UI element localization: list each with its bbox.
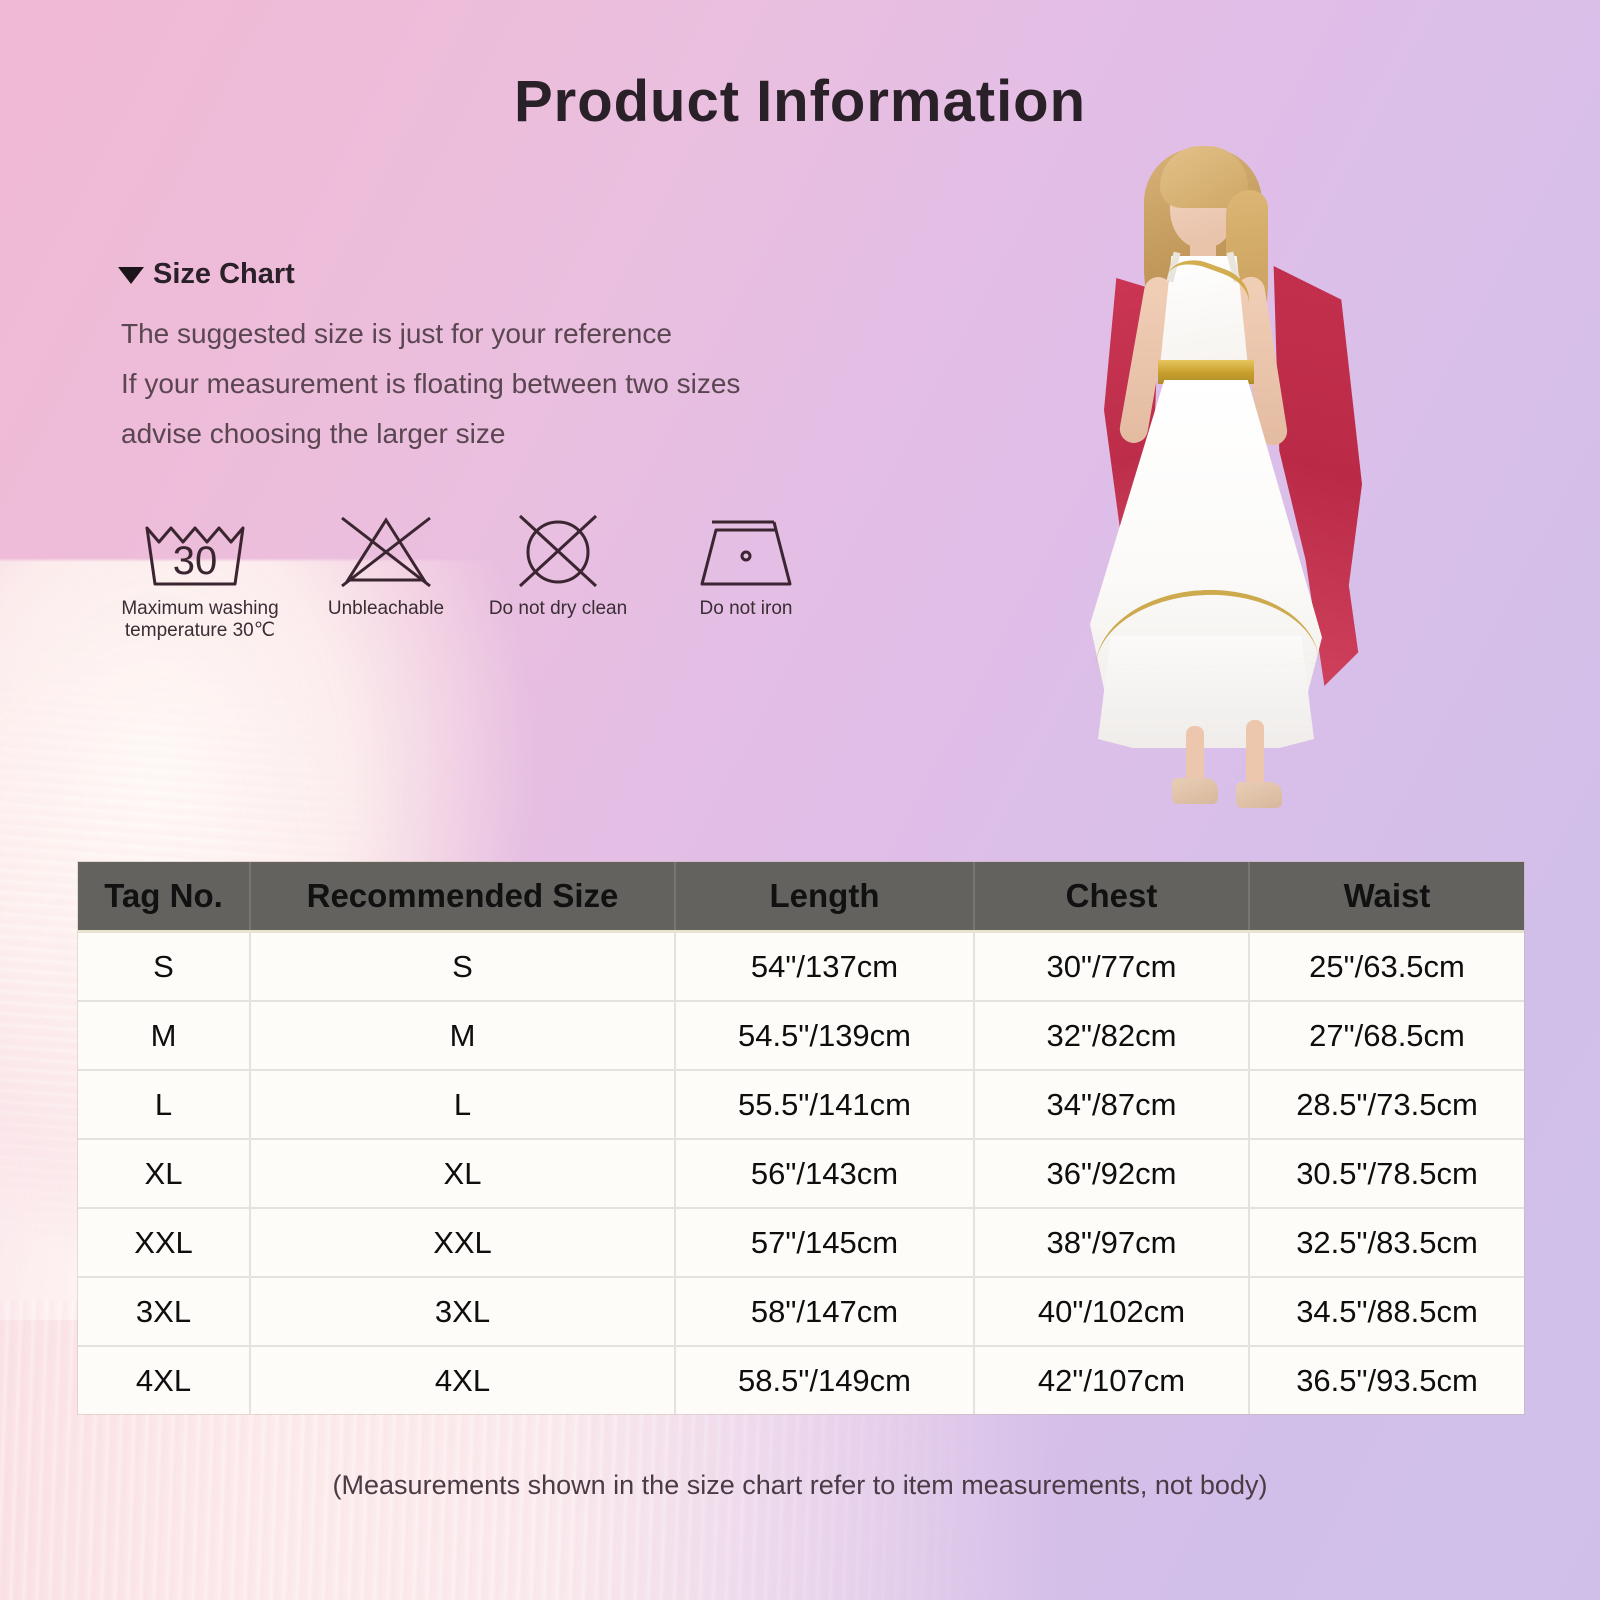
size-note-line-1: The suggested size is just for your refe… xyxy=(121,318,672,350)
table-row: 4XL 4XL 58.5"/149cm 42"/107cm 36.5"/93.5… xyxy=(78,1346,1524,1414)
cell-chest: 30"/77cm xyxy=(974,932,1249,1002)
care-label-dry-clean: Do not dry clean xyxy=(458,598,658,620)
product-model-photo xyxy=(1020,138,1386,840)
cell-tag-no: 4XL xyxy=(78,1346,250,1414)
care-item-bleach: Unbleachable xyxy=(306,508,466,620)
cell-length: 54.5"/139cm xyxy=(675,1001,974,1070)
cell-chest: 34"/87cm xyxy=(974,1070,1249,1139)
table-row: S S 54"/137cm 30"/77cm 25"/63.5cm xyxy=(78,932,1524,1002)
product-information-page: ProductInformation Size Chart The sugges… xyxy=(0,0,1600,1600)
care-item-iron: Do not iron xyxy=(666,508,826,620)
column-header-tag-no: Tag No. xyxy=(78,862,250,932)
cell-tag-no: XL xyxy=(78,1139,250,1208)
cell-waist: 28.5"/73.5cm xyxy=(1249,1070,1524,1139)
cell-tag-no: XXL xyxy=(78,1208,250,1277)
no-iron-icon xyxy=(666,508,826,590)
column-header-recommended-size: Recommended Size xyxy=(250,862,675,932)
no-dry-clean-circle-icon xyxy=(458,508,658,590)
model-shoe-right xyxy=(1236,782,1282,808)
cell-tag-no: S xyxy=(78,932,250,1002)
cell-waist: 30.5"/78.5cm xyxy=(1249,1139,1524,1208)
care-label-iron: Do not iron xyxy=(666,598,826,620)
table-row: M M 54.5"/139cm 32"/82cm 27"/68.5cm xyxy=(78,1001,1524,1070)
cell-recommended-size: L xyxy=(250,1070,675,1139)
cell-waist: 25"/63.5cm xyxy=(1249,932,1524,1002)
cell-waist: 36.5"/93.5cm xyxy=(1249,1346,1524,1414)
cell-waist: 32.5"/83.5cm xyxy=(1249,1208,1524,1277)
care-item-dry-clean: Do not dry clean xyxy=(458,508,658,620)
size-chart-heading: Size Chart xyxy=(118,258,295,291)
cell-recommended-size: XXL xyxy=(250,1208,675,1277)
cell-recommended-size: 3XL xyxy=(250,1277,675,1346)
table-row: XXL XXL 57"/145cm 38"/97cm 32.5"/83.5cm xyxy=(78,1208,1524,1277)
measurement-disclaimer: (Measurements shown in the size chart re… xyxy=(0,1470,1600,1501)
wash-temperature-value: 30 xyxy=(173,539,218,583)
cell-recommended-size: XL xyxy=(250,1139,675,1208)
cell-waist: 27"/68.5cm xyxy=(1249,1001,1524,1070)
page-title-word-1: Product xyxy=(514,69,740,134)
table-header-row: Tag No. Recommended Size Length Chest Wa… xyxy=(78,862,1524,932)
cell-recommended-size: M xyxy=(250,1001,675,1070)
page-title: ProductInformation xyxy=(0,68,1600,135)
cell-chest: 32"/82cm xyxy=(974,1001,1249,1070)
size-chart-table: Tag No. Recommended Size Length Chest Wa… xyxy=(78,862,1524,1414)
table-row: 3XL 3XL 58"/147cm 40"/102cm 34.5"/88.5cm xyxy=(78,1277,1524,1346)
column-header-length: Length xyxy=(675,862,974,932)
size-note-line-3: advise choosing the larger size xyxy=(121,418,505,450)
cell-length: 57"/145cm xyxy=(675,1208,974,1277)
page-title-word-2: Information xyxy=(756,69,1086,134)
table-row: XL XL 56"/143cm 36"/92cm 30.5"/78.5cm xyxy=(78,1139,1524,1208)
cell-length: 55.5"/141cm xyxy=(675,1070,974,1139)
cell-tag-no: 3XL xyxy=(78,1277,250,1346)
table-row: L L 55.5"/141cm 34"/87cm 28.5"/73.5cm xyxy=(78,1070,1524,1139)
care-label-wash: Maximum washing temperature 30℃ xyxy=(110,598,290,643)
cell-chest: 40"/102cm xyxy=(974,1277,1249,1346)
column-header-waist: Waist xyxy=(1249,862,1524,932)
care-instructions-row: 30 Maximum washing temperature 30℃ Unble… xyxy=(110,508,830,648)
cell-length: 56"/143cm xyxy=(675,1139,974,1208)
cell-length: 58.5"/149cm xyxy=(675,1346,974,1414)
model-shoe-left xyxy=(1172,778,1218,804)
column-header-chest: Chest xyxy=(974,862,1249,932)
care-item-wash: 30 Maximum washing temperature 30℃ xyxy=(110,508,290,643)
wash-tub-30-icon: 30 xyxy=(110,508,290,590)
cell-tag-no: L xyxy=(78,1070,250,1139)
cell-recommended-size: 4XL xyxy=(250,1346,675,1414)
care-label-bleach: Unbleachable xyxy=(306,598,466,620)
size-chart-heading-label: Size Chart xyxy=(153,258,295,291)
triangle-down-icon xyxy=(118,267,144,284)
size-note-line-2: If your measurement is floating between … xyxy=(121,368,740,400)
cell-chest: 38"/97cm xyxy=(974,1208,1249,1277)
cell-chest: 36"/92cm xyxy=(974,1139,1249,1208)
cell-recommended-size: S xyxy=(250,932,675,1002)
cell-waist: 34.5"/88.5cm xyxy=(1249,1277,1524,1346)
cell-tag-no: M xyxy=(78,1001,250,1070)
cell-chest: 42"/107cm xyxy=(974,1346,1249,1414)
cell-length: 58"/147cm xyxy=(675,1277,974,1346)
cell-length: 54"/137cm xyxy=(675,932,974,1002)
model-leg-right xyxy=(1246,720,1264,790)
no-bleach-triangle-icon xyxy=(306,508,466,590)
